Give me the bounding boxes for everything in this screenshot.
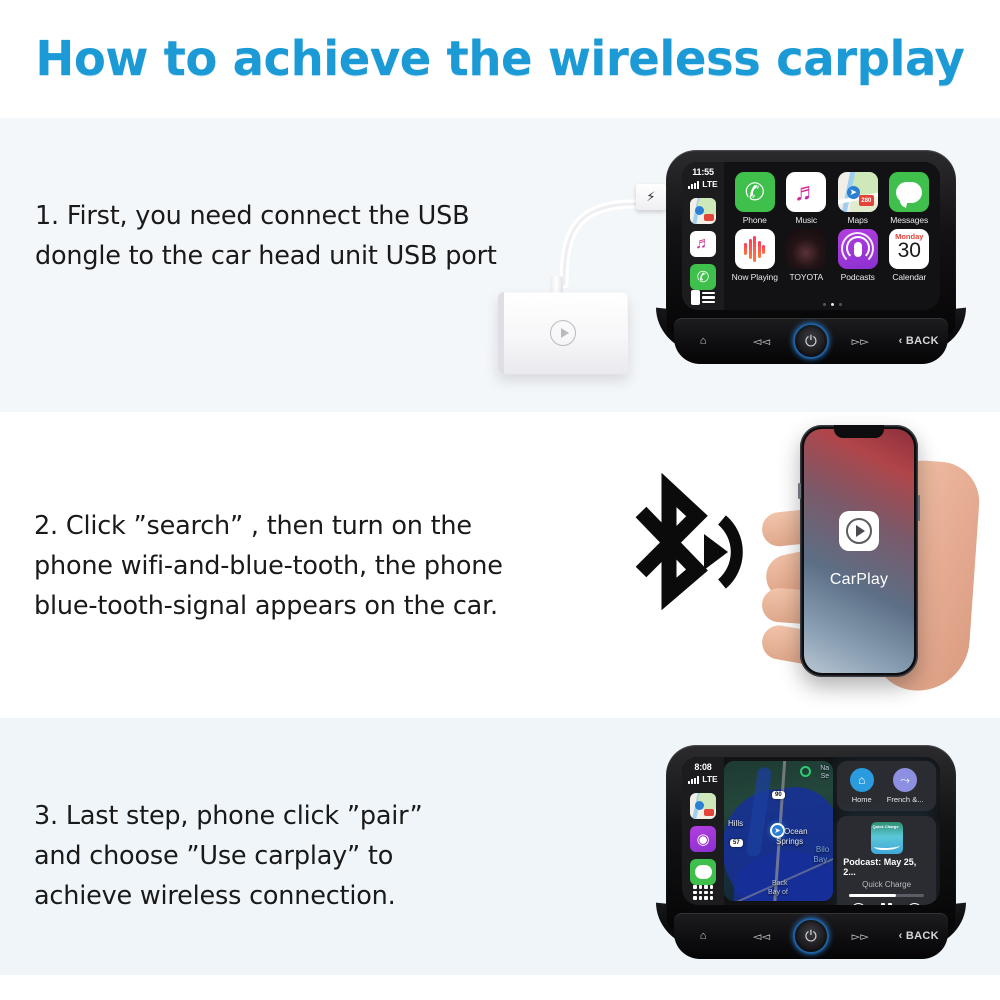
map-label: Hills [728, 819, 743, 828]
map-label: Bilo [816, 845, 829, 854]
status-signal: LTE [688, 774, 717, 784]
bluetooth-signal-icon [594, 472, 754, 632]
sidebar-podcasts-icon[interactable]: ◉ [690, 826, 716, 852]
status-time: 8:08 [694, 762, 711, 772]
calendar-icon: Monday 30 [889, 229, 929, 269]
head-unit-lcd: 8:08 LTE ◉ [682, 757, 940, 905]
back-button[interactable]: ‹ BACK [892, 329, 946, 353]
playback-controls: 15 30 [843, 903, 930, 906]
car-head-unit-step3: 8:08 LTE ◉ [666, 745, 956, 965]
car-head-unit-step1: 11:55 LTE ♬ [666, 150, 956, 370]
play-circle-logo-icon [550, 320, 576, 346]
messages-icon [889, 172, 929, 212]
app-phone[interactable]: ✆ Phone [730, 172, 780, 225]
head-unit-display-bezel: 11:55 LTE ♬ [682, 162, 940, 310]
map-label: Na [820, 765, 829, 772]
smartphone: CarPlay [800, 425, 918, 677]
sidebar-nowplaying-icon[interactable] [691, 290, 715, 305]
back-button[interactable]: ‹ BACK [892, 924, 946, 948]
phone-in-hand: CarPlay [760, 425, 990, 690]
map-panel[interactable]: 90 57 ➤ Ocean Springs Hills Back Bay of … [724, 761, 833, 901]
skip-back-15-icon[interactable]: 15 [851, 903, 866, 906]
app-calendar[interactable]: Monday 30 Calendar [885, 229, 935, 282]
usb-plug-icon: ⚡ [636, 184, 666, 210]
head-unit-display-bezel: 8:08 LTE ◉ [682, 757, 940, 905]
step-2-text: 2. Click ”search” , then turn on the pho… [34, 506, 594, 626]
app-label: Calendar [892, 272, 926, 282]
toyota-icon [786, 229, 826, 269]
signal-bars-icon [688, 181, 699, 189]
sidebar-phone-icon[interactable]: ✆ [690, 264, 716, 290]
head-unit-hard-keys: ⌂ ◅◅ ⏻ ▻▻ ‹ BACK [674, 318, 948, 364]
sidebar-messages-icon[interactable] [690, 859, 716, 885]
home-circle-icon: ⌂ [850, 768, 874, 792]
quick-action-label: French &... [887, 795, 924, 804]
sidebar-maps-icon[interactable] [690, 793, 716, 819]
map-green-marker-icon [800, 766, 811, 777]
calendar-day: 30 [898, 240, 921, 262]
map-label: Springs [776, 837, 803, 846]
map-label: Ocean [784, 827, 808, 836]
carplay-app-grid-area: ✆ Phone ♬ Music ➤ [724, 162, 940, 310]
route-shield: 57 [730, 839, 743, 847]
location-puck-icon: ➤ [770, 823, 785, 838]
power-knob-icon[interactable]: ⏻ [793, 323, 829, 359]
map-label: Bay of [768, 889, 788, 896]
music-icon: ♬ [786, 172, 826, 212]
app-maps[interactable]: ➤280 Maps [833, 172, 883, 225]
carplay-app-icon[interactable] [839, 511, 879, 551]
carplay-dashboard-screen: 8:08 LTE ◉ [682, 757, 940, 905]
skip-forward-30-icon[interactable]: 30 [907, 903, 922, 906]
quick-action-french[interactable]: ⤳ French &... [887, 768, 924, 804]
now-playing-card: Quick Charge Podcast: May 25, 2... Quick… [837, 816, 936, 905]
app-label: Phone [743, 215, 767, 225]
sidebar-app-grid-icon[interactable] [693, 885, 713, 900]
play-circle-logo-icon [846, 518, 872, 544]
status-network: LTE [702, 774, 717, 784]
app-podcasts[interactable]: Podcasts [833, 229, 883, 282]
quick-action-label: Home [852, 795, 872, 804]
now-playing-subtitle: Quick Charge [862, 880, 911, 889]
carplay-sidebar: 11:55 LTE ♬ [682, 162, 724, 310]
directions-circle-icon: ⤳ [893, 768, 917, 792]
quick-actions-card: ⌂ Home ⤳ French &... [837, 761, 936, 811]
status-network: LTE [702, 179, 717, 189]
app-messages[interactable]: Messages [885, 172, 935, 225]
map-label: Back [772, 880, 788, 887]
page-title: How to achieve the wireless carplay [36, 31, 965, 87]
app-now-playing[interactable]: Now Playing [730, 229, 780, 282]
status-signal: LTE [688, 179, 717, 189]
artwork-title: Quick Charge [873, 824, 901, 829]
maps-icon: ➤280 [838, 172, 878, 212]
head-unit-hard-keys: ⌂ ◅◅ ⏻ ▻▻ ‹ BACK [674, 913, 948, 959]
carplay-app-name: CarPlay [804, 571, 914, 589]
phone-power-button[interactable] [918, 495, 921, 521]
home-icon[interactable]: ⌂ [676, 924, 730, 948]
previous-track-icon[interactable]: ◅◅ [735, 924, 789, 948]
nowplaying-icon [735, 229, 775, 269]
app-label: Messages [890, 215, 928, 225]
now-playing-title: Podcast: May 25, 2... [843, 857, 930, 877]
playback-progress-bar[interactable] [849, 894, 924, 897]
title-bar: How to achieve the wireless carplay [0, 0, 1000, 118]
sidebar-app-list: ◉ [690, 793, 716, 885]
podcast-artwork: Quick Charge [871, 822, 903, 854]
power-knob-icon[interactable]: ⏻ [793, 918, 829, 954]
step-3-text: 3. Last step, phone click ”pair” and cho… [34, 796, 504, 916]
podcasts-icon [838, 229, 878, 269]
app-label: Podcasts [841, 272, 875, 282]
head-unit-lcd: 11:55 LTE ♬ [682, 162, 940, 310]
map-label: Se [821, 773, 830, 780]
dongle-body [497, 292, 628, 374]
carplay-sidebar: 8:08 LTE ◉ [682, 757, 724, 905]
quick-action-home[interactable]: ⌂ Home [850, 768, 874, 804]
app-toyota[interactable]: TOYOTA [782, 229, 832, 282]
route-shield: 90 [772, 791, 785, 799]
dongle-left-edge [498, 292, 504, 374]
app-label: Now Playing [732, 272, 778, 282]
app-label: Maps [848, 215, 868, 225]
phone-icon: ✆ [735, 172, 775, 212]
page-indicator-dots[interactable] [724, 303, 940, 306]
next-track-icon[interactable]: ▻▻ [833, 329, 887, 353]
sidebar-maps-icon[interactable] [690, 198, 716, 224]
band-footer [0, 975, 1000, 1000]
home-icon[interactable]: ⌂ [676, 329, 730, 353]
step-1-text: 1. First, you need connect the USB dongl… [35, 196, 555, 276]
pause-icon[interactable] [881, 903, 892, 905]
carplay-home-screen: 11:55 LTE ♬ [682, 162, 940, 310]
next-track-icon[interactable]: ▻▻ [833, 924, 887, 948]
app-music[interactable]: ♬ Music [782, 172, 832, 225]
app-label: Music [795, 215, 817, 225]
dashboard-right-column: ⌂ Home ⤳ French &... Quick Ch [837, 761, 936, 901]
previous-track-icon[interactable]: ◅◅ [735, 329, 789, 353]
phone-notch [834, 425, 884, 438]
app-label: TOYOTA [789, 272, 823, 282]
status-time: 11:55 [692, 167, 714, 177]
carplay-app-grid: ✆ Phone ♬ Music ➤ [730, 172, 934, 282]
sidebar-music-icon[interactable]: ♬ [690, 231, 716, 257]
carplay-dashboard: 90 57 ➤ Ocean Springs Hills Back Bay of … [724, 757, 940, 905]
phone-screen[interactable]: CarPlay [804, 429, 914, 673]
sidebar-app-list: ♬ ✆ [690, 198, 716, 290]
phone-volume-button[interactable] [798, 483, 801, 499]
map-label: Bay [813, 855, 827, 864]
poster-page: How to achieve the wireless carplay 1. F… [0, 0, 1000, 1000]
signal-bars-icon [688, 776, 699, 784]
